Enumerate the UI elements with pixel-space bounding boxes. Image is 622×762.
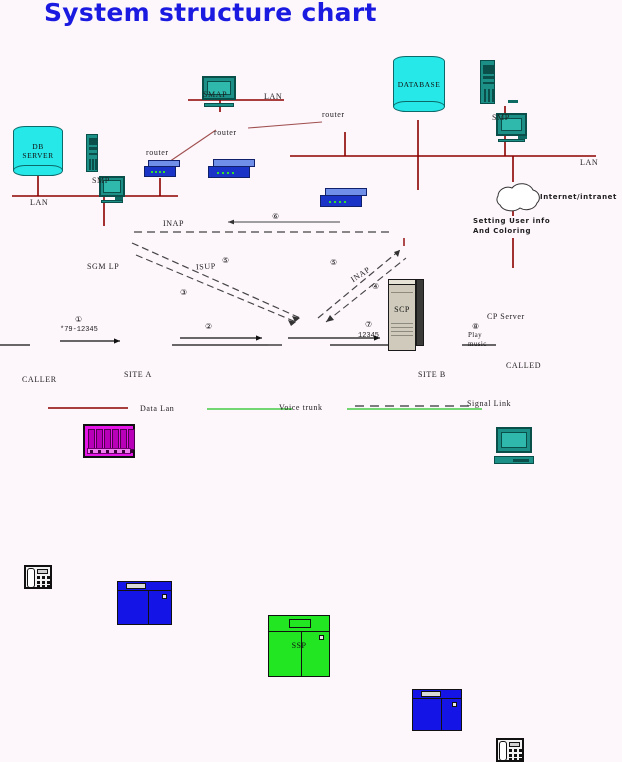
site-b-node — [412, 689, 462, 731]
sgm-lp-node — [83, 424, 135, 458]
site-a-label: SITE A — [124, 370, 152, 379]
lan-right-label: LAN — [580, 158, 598, 167]
router-left-icon — [144, 160, 180, 178]
cp-server-note-line2: And Coloring — [473, 226, 550, 236]
smp-right-computer — [480, 60, 532, 108]
sgm-lp-label: SGM LP — [87, 262, 119, 271]
db-server-caption: DB SERVER — [22, 142, 53, 160]
cp-server-note-line1: Setting User info — [473, 216, 550, 226]
flow-8-label-line2: music — [468, 340, 487, 349]
router-mid-label: router — [214, 128, 237, 137]
cylinder-bottom — [393, 101, 445, 112]
db-server-label-line2: SERVER — [22, 151, 53, 160]
router-mid-icon — [208, 159, 256, 179]
router-right-icon — [320, 188, 368, 208]
tower-icon — [86, 134, 98, 172]
cp-server-computer — [496, 427, 622, 464]
smp-left-label: SMP — [92, 176, 110, 185]
cp-server-note: Setting User info And Coloring — [473, 216, 550, 236]
flow-7-label: 12345 — [358, 332, 379, 340]
database-cylinder: DATABASE — [393, 56, 445, 112]
legend-item-data-lan: Data Lan — [140, 404, 174, 413]
smap-label: SMAP — [203, 90, 227, 99]
page-title: System structure chart — [44, 0, 377, 27]
ssp-node: SSP — [268, 615, 330, 677]
legend-item-voice-trunk: Voice trunk — [279, 403, 323, 412]
flow-8-label-line1: Play — [468, 331, 487, 340]
caller-label: CALLER — [22, 375, 57, 384]
flow-3-marker: ③ — [180, 288, 187, 297]
caller-phone-icon — [24, 565, 52, 589]
smp-left-computer — [86, 132, 126, 178]
legend: Data Lan Voice trunk Signal Link — [0, 398, 622, 424]
tower-icon — [480, 60, 495, 104]
flow-5-marker: ⑤ — [222, 256, 229, 265]
smp-right-label: SMP — [492, 113, 510, 122]
flow-8-label: Play music — [468, 331, 487, 349]
db-server-label-line1: DB — [22, 142, 53, 151]
cylinder-bottom — [13, 165, 63, 176]
cp-server-label: CP Server — [487, 312, 525, 321]
site-b-label: SITE B — [418, 370, 446, 379]
flow-7-marker: ⑦ — [365, 320, 372, 329]
db-server-cylinder: DB SERVER — [13, 126, 63, 176]
flow-2-marker: ② — [205, 322, 212, 331]
inap-right-label: INAP — [349, 265, 372, 284]
ssp-label: SSP — [269, 641, 329, 650]
lan-left-label: LAN — [30, 198, 48, 207]
site-a-node — [117, 581, 172, 625]
flow-4-marker: ④ — [372, 282, 379, 291]
cloud-label: Internet/intranet — [540, 193, 617, 201]
flow-8-marker: ⑧ — [472, 322, 479, 331]
called-label: CALLED — [506, 361, 541, 370]
flow-1-marker: ① — [75, 315, 82, 324]
router-left-label: router — [146, 148, 169, 157]
isup-label: ISUP — [196, 261, 216, 271]
legend-item-signal-link: Signal Link — [467, 399, 511, 408]
router-right-label: router — [322, 110, 345, 119]
scp-server-icon: SCP — [388, 279, 424, 351]
flow-6-marker: ⑥ — [272, 212, 279, 221]
diagram-canvas: System structure chart — [0, 0, 622, 426]
database-label: DATABASE — [398, 80, 441, 89]
flow-1-label: *79-12345 — [60, 326, 98, 334]
called-phone-icon — [496, 738, 524, 762]
lan-top-label: LAN — [264, 92, 282, 101]
flow-5b-marker: ⑤ — [330, 258, 337, 267]
inap-top-label: INAP — [163, 219, 184, 228]
scp-label: SCP — [388, 305, 416, 314]
